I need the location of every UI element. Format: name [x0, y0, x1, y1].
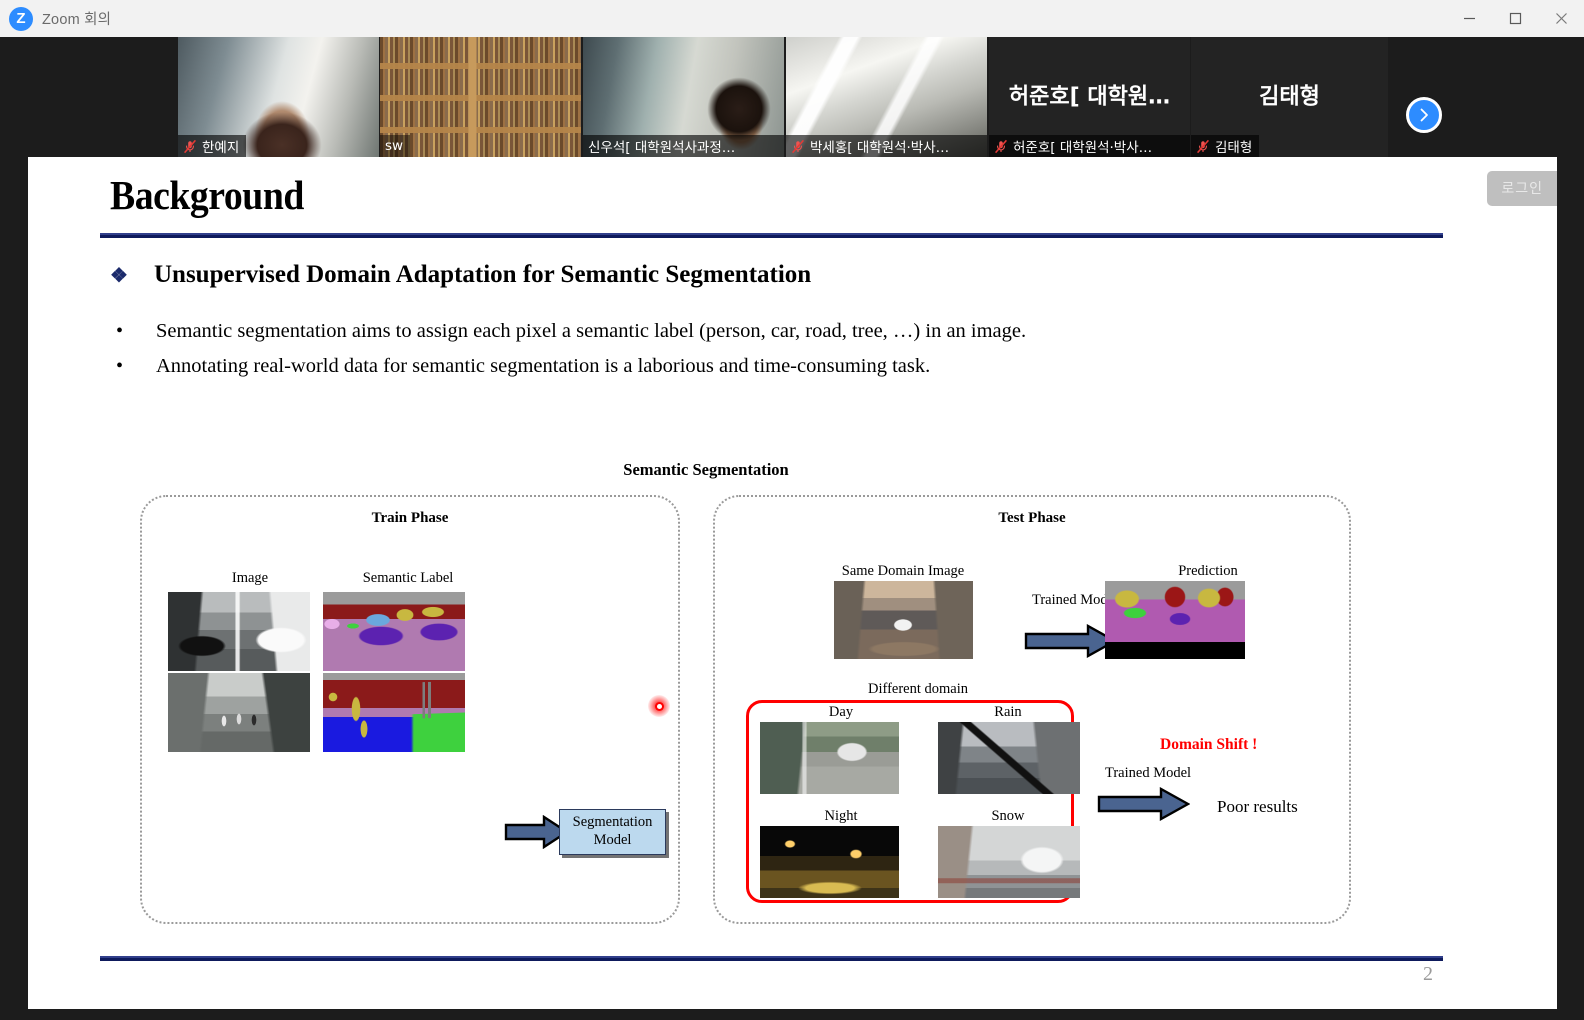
filmstrip-next-button[interactable] [1406, 97, 1442, 133]
train-label-top [323, 592, 465, 671]
participant-namebar-0: 한예지 [178, 135, 246, 157]
chevron-right-icon [1416, 107, 1432, 123]
same-domain-image [834, 581, 973, 659]
train-label-caption: Semantic Label [323, 570, 493, 587]
participant-name-4: 허준호[ 대학원석·박사… [1013, 136, 1152, 156]
segmentation-model-box: Segmentation Model [559, 809, 666, 855]
shared-slide: 로그인 Background 2 ❖ Unsupervised Domain A… [28, 157, 1557, 1009]
poor-results-arrow-icon [1097, 787, 1190, 821]
domain-image-rain [938, 722, 1080, 794]
train-phase-heading: Train Phase [142, 510, 678, 527]
test-phase-heading: Test Phase [715, 510, 1349, 527]
mic-off-icon [994, 139, 1008, 154]
minimize-button[interactable] [1446, 0, 1492, 37]
participant-tile-5[interactable]: 김태형 김태형 [1191, 37, 1388, 157]
participant-namebar-2: 신우석[ 대학원석사과정… [583, 135, 784, 157]
prediction-caption: Prediction [1118, 563, 1298, 580]
train-label-bottom [323, 673, 465, 752]
domain-image-night [760, 826, 899, 898]
trained-model-label-bottom: Trained Model [1105, 765, 1191, 782]
participant-tile-4[interactable]: 허준호[ 대학원… 허준호[ 대학원석·박사… [989, 37, 1190, 157]
domain-caption-day: Day [786, 704, 896, 721]
participant-bigname-5: 김태형 [1191, 78, 1388, 110]
figure-title: Semantic Segmentation [606, 460, 806, 480]
participant-name-5: 김태형 [1215, 136, 1252, 156]
close-button[interactable] [1538, 0, 1584, 37]
domain-caption-night: Night [786, 808, 896, 825]
participant-name-0: 한예지 [202, 136, 239, 156]
participant-name-3: 박세홍[ 대학원석·박사… [810, 136, 949, 156]
participant-tile-3[interactable]: 박세홍[ 대학원석·박사… [786, 37, 987, 157]
participant-filmstrip: 한예지 sw 신우석[ 대학원석사과정… [0, 37, 1584, 157]
maximize-button[interactable] [1492, 0, 1538, 37]
window-controls [1446, 0, 1584, 37]
laser-pointer-dot [648, 695, 670, 717]
participant-namebar-1: sw [380, 135, 410, 157]
train-image-top [168, 592, 310, 671]
participant-video-divider-1 [380, 37, 581, 157]
participant-tile-0[interactable]: 한예지 [178, 37, 379, 157]
window-title: Zoom 회의 [42, 8, 111, 29]
segmentation-model-line2: Model [594, 832, 632, 850]
test-arrow-icon [1024, 624, 1117, 658]
participant-tile-2[interactable]: 신우석[ 대학원석사과정… [583, 37, 784, 157]
mic-off-icon [791, 139, 805, 154]
participant-name-1: sw [385, 138, 403, 154]
participant-bigname-4: 허준호[ 대학원… [989, 78, 1190, 110]
window-title-bar: Z Zoom 회의 [0, 0, 1584, 38]
segmentation-model-line1: Segmentation [573, 814, 653, 832]
train-image-bottom [168, 673, 310, 752]
participant-namebar-3: 박세홍[ 대학원석·박사… [786, 135, 987, 157]
domain-shift-label: Domain Shift ! [1160, 736, 1257, 754]
train-image-caption: Image [180, 570, 320, 587]
participant-name-2: 신우석[ 대학원석사과정… [588, 136, 735, 156]
prediction-image [1105, 581, 1245, 659]
zoom-logo-icon: Z [9, 7, 33, 31]
domain-image-snow [938, 826, 1080, 898]
poor-results-label: Poor results [1217, 797, 1298, 817]
participant-namebar-5: 김태형 [1191, 135, 1259, 157]
participant-namebar-4: 허준호[ 대학원석·박사… [989, 135, 1190, 157]
mic-off-icon [1196, 139, 1210, 154]
domain-caption-rain: Rain [953, 704, 1063, 721]
participant-tile-1[interactable]: sw [380, 37, 581, 157]
same-domain-caption: Same Domain Image [813, 563, 993, 580]
zoom-meeting-window: Z Zoom 회의 한예 [0, 0, 1584, 1020]
mic-off-icon [183, 139, 197, 154]
different-domain-caption: Different domain [828, 681, 1008, 698]
semantic-segmentation-figure: Semantic Segmentation Train Phase Image … [28, 157, 1557, 1009]
domain-image-day [760, 722, 899, 794]
domain-caption-snow: Snow [953, 808, 1063, 825]
